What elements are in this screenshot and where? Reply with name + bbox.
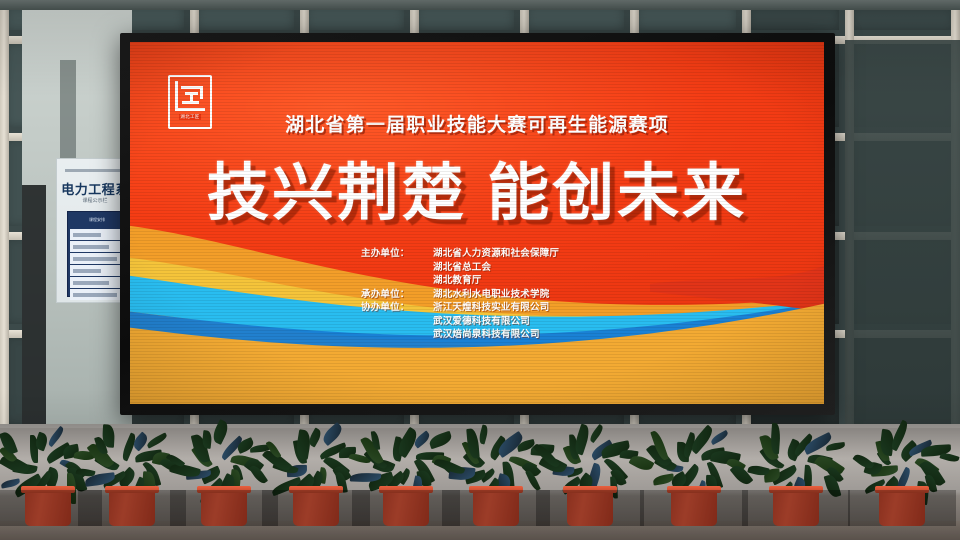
poster-table-row	[70, 229, 124, 240]
plant-foliage	[744, 412, 848, 490]
flower-pot	[671, 490, 717, 526]
flower-pot	[383, 490, 429, 526]
poster-row-text-bar	[73, 245, 109, 249]
plant-leaf	[709, 430, 729, 445]
led-display-screen: 湖北工匠 湖北省第一届职业技能大赛可再生能源赛项 技兴荆楚 能创未来 主办单位：…	[130, 42, 824, 404]
plant-leaf	[210, 419, 231, 445]
flower-pot	[473, 490, 519, 526]
banner-main-title: 技兴荆楚 能创未来	[130, 142, 824, 232]
plant-foliage	[172, 412, 276, 490]
poster-row-text-bar	[73, 269, 101, 273]
plant-leaf	[588, 424, 605, 443]
potted-plant	[640, 490, 748, 526]
flower-pot	[879, 490, 925, 526]
poster-row-text-bar	[73, 281, 109, 285]
flower-pot	[201, 490, 247, 526]
credit-label: 承办单位：	[361, 288, 433, 302]
credit-line: 武汉焙尚泉科技有限公司	[361, 328, 593, 342]
plant-foliage	[850, 412, 954, 490]
poster-table-header: 课程安排	[68, 212, 126, 228]
poster-table-row	[70, 289, 124, 300]
flower-pot	[773, 490, 819, 526]
potted-plant	[442, 490, 550, 526]
flower-pot	[25, 490, 71, 526]
poster-table-row	[70, 265, 124, 276]
poster-table-row	[70, 241, 124, 252]
credit-line: 武汉爱德科技有限公司	[361, 315, 593, 329]
credit-line: 协办单位：浙江天煌科技实业有限公司	[361, 301, 593, 315]
plant-foliage	[80, 412, 184, 490]
poster-row-text-bar	[73, 257, 117, 261]
potted-plant	[536, 490, 644, 526]
poster-table-row	[70, 277, 124, 288]
potted-plant	[848, 490, 956, 526]
credit-line: 主办单位：湖北省人力资源和社会保障厅	[361, 247, 593, 261]
flower-pot	[293, 490, 339, 526]
credit-label: 协办单位：	[361, 301, 433, 315]
credit-value: 浙江天煌科技实业有限公司	[433, 301, 593, 315]
credit-value: 武汉焙尚泉科技有限公司	[433, 328, 593, 342]
plant-foliage	[538, 412, 642, 490]
credit-value: 湖北省人力资源和社会保障厅	[433, 247, 593, 261]
banner-subtitle: 湖北省第一届职业技能大赛可再生能源赛项	[130, 110, 824, 137]
poster-rule	[65, 169, 127, 172]
plant-foliage	[642, 412, 746, 490]
credit-label: 主办单位：	[361, 247, 433, 261]
plant-leaf	[145, 432, 168, 448]
credit-label	[361, 274, 433, 288]
credit-line: 湖北教育厅	[361, 274, 593, 288]
conference-hall-scene: 电力工程系 课程公示栏 课程安排	[0, 0, 960, 540]
plant-foliage	[354, 412, 458, 490]
right-wall-panels	[845, 40, 960, 430]
poster-table-row	[70, 253, 124, 264]
credit-line: 湖北省总工会	[361, 261, 593, 275]
plant-foliage	[444, 412, 548, 490]
poster-table-header-label: 课程安排	[89, 217, 105, 223]
plant-leaf	[826, 442, 846, 451]
plant-leaf	[770, 422, 781, 454]
potted-plant	[742, 490, 850, 526]
organizer-credits: 主办单位：湖北省人力资源和社会保障厅湖北省总工会湖北教育厅承办单位：湖北水利水电…	[130, 247, 824, 342]
poster-table: 课程安排	[67, 211, 127, 297]
plant-leaf	[102, 424, 115, 448]
poster-row-text-bar	[73, 233, 101, 237]
plant-leaf	[307, 427, 324, 447]
lattice-frame-vertical	[0, 0, 9, 430]
credit-line: 承办单位：湖北水利水电职业技术学院	[361, 288, 593, 302]
ceiling-band	[0, 0, 960, 10]
credit-value: 湖北教育厅	[433, 274, 593, 288]
poster-row-text-bar	[73, 293, 117, 297]
flower-pot	[567, 490, 613, 526]
craftsman-glyph-icon	[175, 81, 205, 111]
credit-label	[361, 328, 433, 342]
flower-pot	[109, 490, 155, 526]
credit-label	[361, 261, 433, 275]
left-doorway-dark	[22, 185, 46, 430]
credit-label	[361, 315, 433, 329]
credit-value: 湖北省总工会	[433, 261, 593, 275]
credit-value: 湖北水利水电职业技术学院	[433, 288, 593, 302]
plant-leaf	[478, 425, 490, 445]
credit-value: 武汉爱德科技有限公司	[433, 315, 593, 329]
led-display-bezel: 湖北工匠 湖北省第一届职业技能大赛可再生能源赛项 技兴荆楚 能创未来 主办单位：…	[120, 33, 835, 415]
